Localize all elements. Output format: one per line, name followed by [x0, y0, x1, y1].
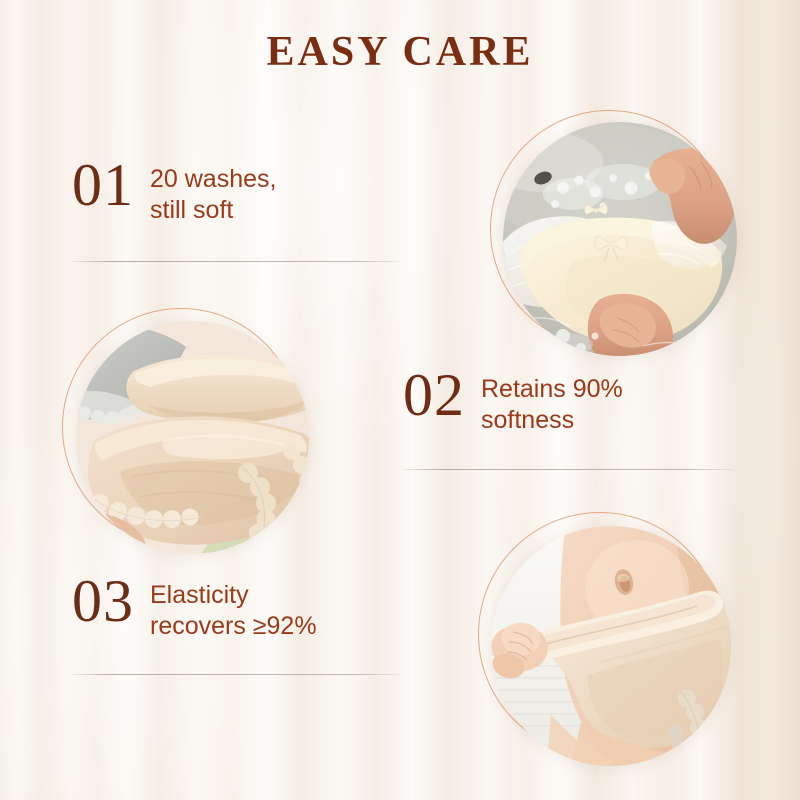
- page-title: EASY CARE: [0, 28, 800, 76]
- feature-photo-3: [478, 512, 743, 777]
- photo-elastic-stretch: [491, 526, 731, 766]
- feature-number-3: 03: [72, 572, 134, 631]
- feature-divider-1: [72, 261, 400, 262]
- photo-washing: [503, 122, 737, 356]
- feature-item-1: 01 20 washes, still soft: [72, 162, 276, 225]
- photo-folded-briefs: [76, 321, 309, 554]
- feature-description-2: Retains 90% softness: [481, 372, 623, 435]
- feature-number-1: 01: [72, 156, 134, 215]
- feature-description-3: Elasticity recovers ≥92%: [150, 578, 317, 641]
- feature-divider-3: [72, 674, 400, 675]
- feature-item-2: 02 Retains 90% softness: [403, 372, 623, 435]
- feature-item-3: 03 Elasticity recovers ≥92%: [72, 578, 317, 641]
- infographic-page: EASY CARE: [0, 0, 800, 800]
- feature-divider-2: [403, 469, 733, 470]
- feature-description-1: 20 washes, still soft: [150, 162, 276, 225]
- feature-photo-2: [62, 308, 322, 568]
- feature-number-2: 02: [403, 366, 465, 425]
- feature-photo-1: [490, 110, 750, 370]
